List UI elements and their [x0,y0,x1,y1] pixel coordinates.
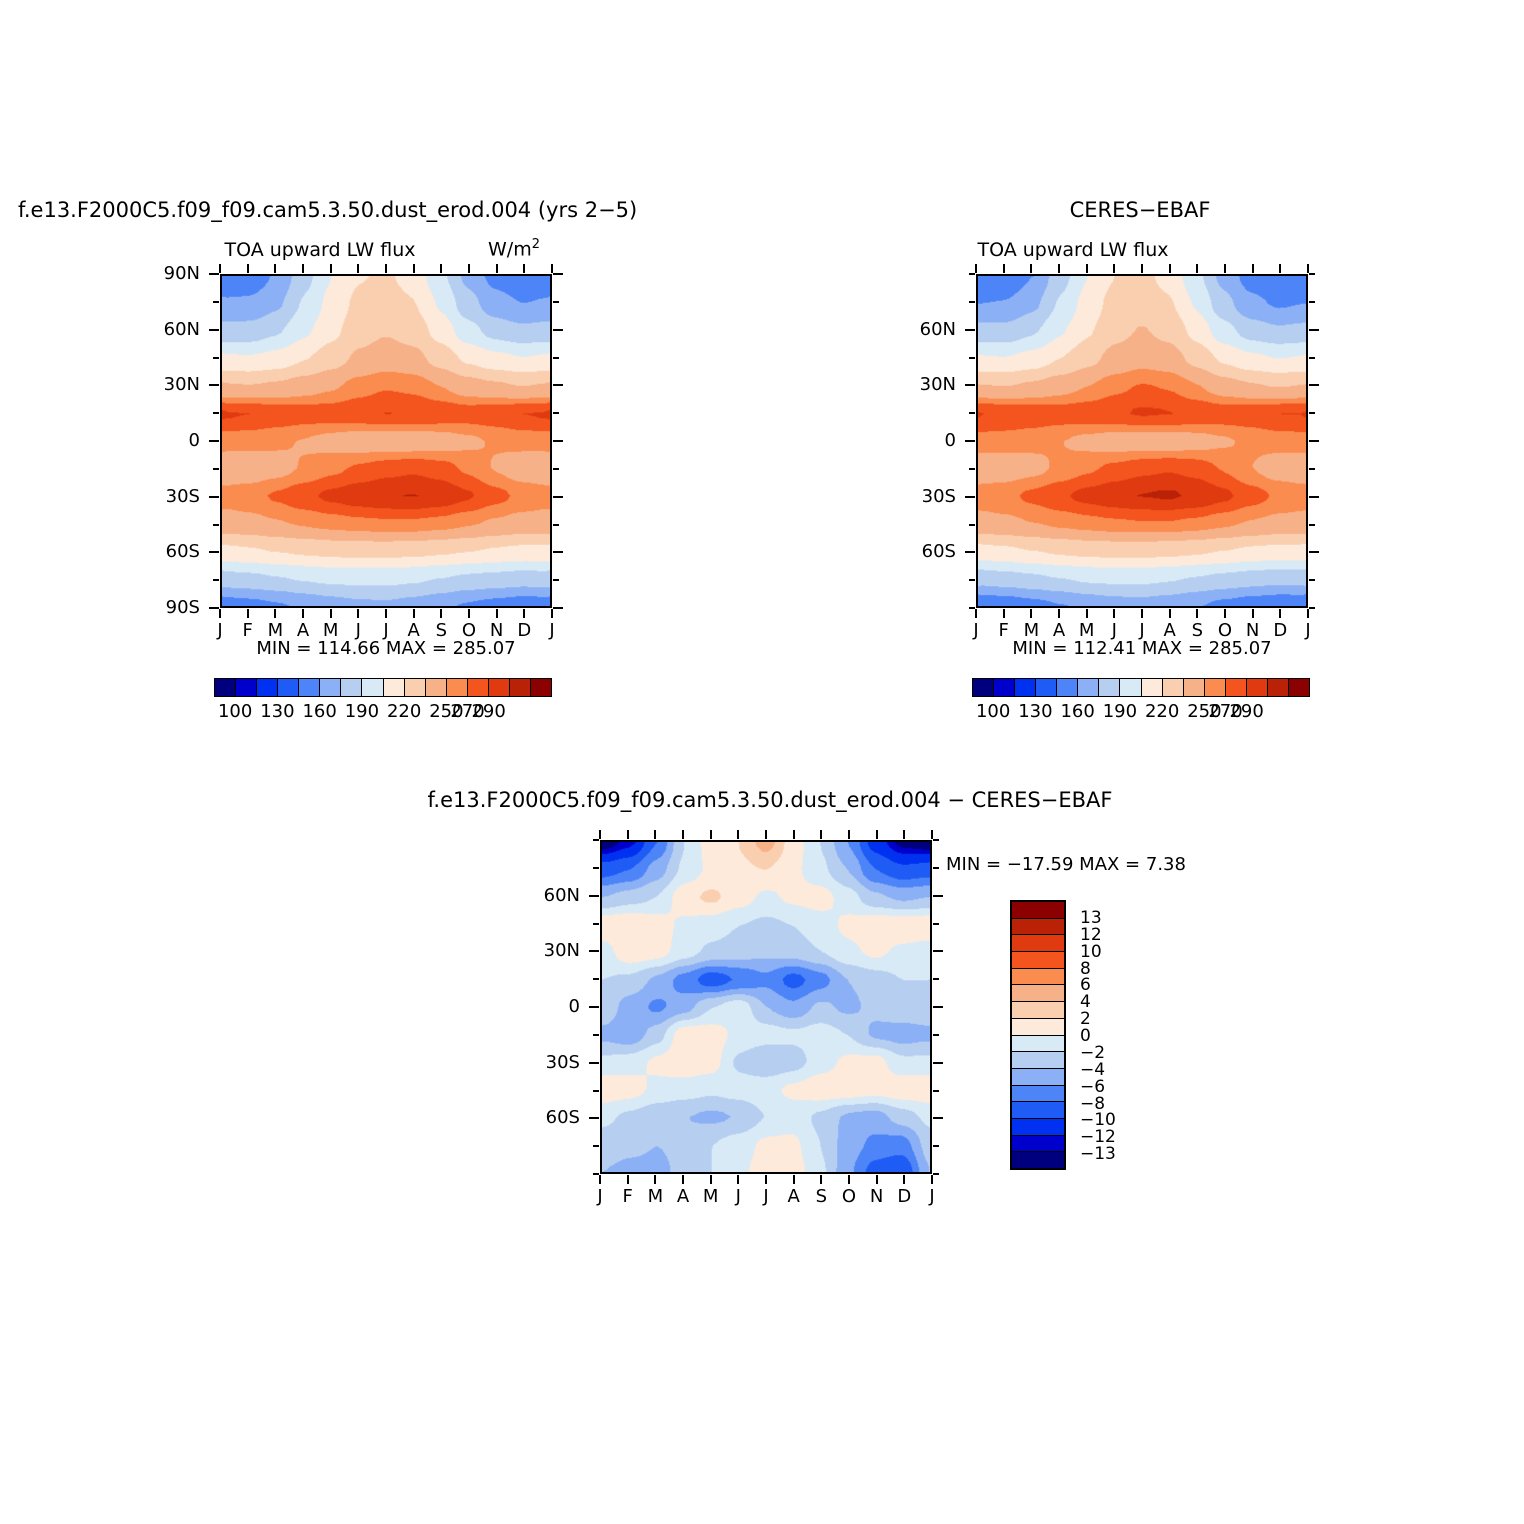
x-tick [1169,609,1171,618]
y-axis-label: 30S [166,488,200,506]
x-axis-label: N [870,1188,883,1206]
y-tick [553,273,563,275]
colorbar-cell [1012,1036,1064,1053]
y-axis-label: 30N [544,942,580,960]
colorbar-tick-label: 220 [1145,703,1179,721]
x-axis-label: F [998,622,1008,640]
colorbar-cell [1184,679,1205,696]
x-axis-label: J [597,1188,602,1206]
colorbar-cell [489,679,510,696]
x-tick [1307,264,1309,273]
obs-contour-canvas [978,276,1306,606]
colorbar-cell [1012,1052,1064,1069]
x-axis-label: S [816,1188,827,1206]
y-tick [213,579,219,581]
x-tick [627,1175,629,1184]
x-tick [1196,609,1198,618]
y-axis-label: 60S [546,1109,580,1127]
x-tick [468,264,470,273]
y-tick [213,412,219,414]
y-tick [589,1062,599,1064]
x-axis-label: M [648,1188,664,1206]
x-axis-label: J [763,1188,768,1206]
x-tick [876,1175,878,1184]
y-tick [933,839,939,841]
y-tick [933,1090,939,1092]
x-axis-label: O [842,1188,856,1206]
obs-minmax-text: MIN = 112.41 MAX = 285.07 [1012,640,1271,658]
y-tick [553,329,563,331]
x-tick [1169,264,1171,273]
y-tick [593,1090,599,1092]
y-tick [1309,357,1315,359]
y-tick [965,440,975,442]
y-tick [1309,384,1319,386]
y-tick [933,978,939,980]
y-tick [933,950,943,952]
y-axis-label: 60N [544,887,580,905]
x-tick [1224,609,1226,618]
colorbar-cell [426,679,447,696]
x-tick [551,609,553,618]
x-tick [302,609,304,618]
colorbar-cell [1226,679,1247,696]
colorbar-cell [1012,1069,1064,1086]
x-tick [357,609,359,618]
x-tick [848,1175,850,1184]
model-colorbar[interactable] [214,678,552,697]
x-tick [1252,609,1254,618]
colorbar-cell [1057,679,1078,696]
x-tick [468,609,470,618]
x-tick [1086,264,1088,273]
x-tick [385,609,387,618]
x-axis-label: M [703,1188,719,1206]
colorbar-cell [1012,902,1064,919]
x-tick [274,609,276,618]
y-tick [1309,301,1315,303]
y-tick [1309,412,1315,414]
model-contour-canvas [222,276,550,606]
x-tick [385,264,387,273]
x-tick [1141,264,1143,273]
y-axis-label: 30S [546,1054,580,1072]
y-tick [209,329,219,331]
colorbar-cell [1012,1102,1064,1119]
y-tick [553,384,563,386]
model-panel-units: W/m2 [488,239,540,259]
colorbar-cell [1012,1152,1064,1168]
colorbar-cell [1012,1086,1064,1103]
y-tick [553,524,559,526]
y-tick [965,384,975,386]
diff-panel-title: f.e13.F2000C5.f09_f09.cam5.3.50.dust_ero… [428,790,1113,811]
y-axis-label: 0 [189,432,200,450]
x-tick [440,609,442,618]
diff-colorbar[interactable] [1010,900,1066,1170]
x-tick [219,264,221,273]
colorbar-cell [994,679,1015,696]
x-tick [1141,609,1143,618]
colorbar-cell [341,679,362,696]
x-tick [931,1175,933,1184]
y-tick [965,496,975,498]
y-tick [965,329,975,331]
colorbar-cell [1036,679,1057,696]
y-axis-label: 90N [164,265,200,283]
y-tick [593,923,599,925]
x-tick [793,1175,795,1184]
colorbar-cell [1247,679,1268,696]
x-axis-label: D [1273,622,1287,640]
y-axis-label: 30N [164,376,200,394]
x-tick [551,264,553,273]
colorbar-cell [384,679,405,696]
y-tick [969,357,975,359]
x-tick [975,609,977,618]
y-tick [933,1062,943,1064]
x-tick [1252,264,1254,273]
colorbar-cell [1012,969,1064,986]
colorbar-tick-label: 190 [345,703,379,721]
y-tick [933,867,939,869]
x-axis-label: J [549,622,554,640]
x-tick [654,830,656,839]
x-tick [440,264,442,273]
y-tick [1309,440,1319,442]
x-tick [599,1175,601,1184]
y-tick [553,412,559,414]
colorbar-tick-label: 160 [1060,703,1094,721]
colorbar-cell [1012,935,1064,952]
colorbar-cell [362,679,383,696]
x-tick [710,1175,712,1184]
y-tick [589,895,599,897]
y-tick [593,839,599,841]
x-axis-label: J [1305,622,1310,640]
x-axis-label: J [929,1188,934,1206]
y-tick [969,579,975,581]
y-tick [593,1034,599,1036]
x-tick [413,609,415,618]
y-tick [209,384,219,386]
model-panel-title: f.e13.F2000C5.f09_f09.cam5.3.50.dust_ero… [18,200,637,221]
x-tick [274,264,276,273]
colorbar-tick-label: 290 [471,703,505,721]
x-axis-label: F [622,1188,632,1206]
x-tick [523,609,525,618]
colorbar-cell [1012,1136,1064,1153]
x-axis-label: A [787,1188,799,1206]
x-tick [1307,609,1309,618]
y-tick [213,301,219,303]
colorbar-cell [1205,679,1226,696]
y-tick [969,412,975,414]
colorbar-tick-label: 130 [1018,703,1052,721]
colorbar-tick-label: 100 [976,703,1010,721]
x-tick [330,609,332,618]
y-axis-label: 0 [945,432,956,450]
diff-contour-plot[interactable] [600,840,932,1174]
x-tick [710,830,712,839]
colorbar-cell [973,679,994,696]
x-tick [737,830,739,839]
x-axis-label: J [217,622,222,640]
y-tick [553,440,563,442]
y-axis-label: 90S [166,599,200,617]
colorbar-tick-label: 130 [260,703,294,721]
x-axis-label: D [897,1188,911,1206]
colorbar-tick-label: 220 [387,703,421,721]
x-tick [876,830,878,839]
colorbar-cell [1099,679,1120,696]
diff-contour-canvas [602,842,930,1172]
y-tick [553,301,559,303]
x-tick [1030,609,1032,618]
x-tick [793,830,795,839]
y-axis-label: 60N [920,321,956,339]
y-tick [209,496,219,498]
y-tick [969,301,975,303]
y-tick [969,468,975,470]
y-tick [933,1145,939,1147]
colorbar-cell [257,679,278,696]
colorbar-cell [1268,679,1289,696]
model-minmax-text: MIN = 114.66 MAX = 285.07 [256,640,515,658]
x-tick [413,264,415,273]
y-tick [213,468,219,470]
x-tick [1279,609,1281,618]
x-tick [1279,264,1281,273]
x-tick [1003,264,1005,273]
x-tick [903,830,905,839]
x-tick [903,1175,905,1184]
colorbar-cell [1120,679,1141,696]
y-tick [593,1145,599,1147]
obs-panel-title: CERES−EBAF [1070,200,1211,221]
x-tick [848,830,850,839]
x-tick [496,264,498,273]
y-tick [589,1117,599,1119]
x-tick [523,264,525,273]
colorbar-cell [1012,919,1064,936]
y-tick [593,867,599,869]
x-tick [357,264,359,273]
y-tick [213,524,219,526]
colorbar-cell [299,679,320,696]
colorbar-cell [1012,1019,1064,1036]
y-tick [553,357,559,359]
x-tick [682,1175,684,1184]
y-tick [969,524,975,526]
x-tick [247,609,249,618]
y-tick [1309,607,1315,609]
y-tick [965,551,975,553]
y-tick [209,551,219,553]
colorbar-tick-label: 100 [218,703,252,721]
x-tick [1113,264,1115,273]
colorbar-cell [236,679,257,696]
diff-colorbar-labels: 13121086420−2−4−6−8−10−12−13 [1074,900,1134,1170]
y-tick [1309,579,1315,581]
y-tick [933,1034,939,1036]
y-axis-label: 60S [166,543,200,561]
colorbar-cell [447,679,468,696]
y-tick [593,978,599,980]
y-tick [553,468,559,470]
x-tick [682,830,684,839]
colorbar-cell [1015,679,1036,696]
x-tick [820,1175,822,1184]
colorbar-cell [1012,985,1064,1002]
x-tick [1058,264,1060,273]
colorbar-tick-label: 290 [1229,703,1263,721]
y-tick [1309,468,1315,470]
colorbar-cell [531,679,551,696]
x-tick [820,830,822,839]
y-axis-label: 60S [922,543,956,561]
colorbar-cell [1142,679,1163,696]
x-axis-label: J [736,1188,741,1206]
x-axis-label: D [517,622,531,640]
y-tick [209,273,219,275]
x-tick [765,830,767,839]
colorbar-cell [1012,1119,1064,1136]
x-tick [219,609,221,618]
y-axis-label: 30N [920,376,956,394]
y-tick [1309,551,1319,553]
y-tick [1309,329,1319,331]
y-tick [553,607,563,609]
x-tick [302,264,304,273]
colorbar-cell [405,679,426,696]
x-tick [1224,264,1226,273]
x-axis-label: F [242,622,252,640]
x-tick [330,264,332,273]
y-tick [933,895,943,897]
y-tick [933,1117,943,1119]
y-tick [589,1006,599,1008]
x-tick [654,1175,656,1184]
diff-minmax-text: MIN = −17.59 MAX = 7.38 [946,856,1186,874]
colorbar-cell [320,679,341,696]
x-tick [599,830,601,839]
colorbar-cell [510,679,531,696]
y-tick [969,273,975,275]
y-axis-label: 30S [922,488,956,506]
colorbar-cell [1012,952,1064,969]
model-contour-plot[interactable] [220,274,552,608]
y-axis-label: 60N [164,321,200,339]
y-tick [553,579,559,581]
x-tick [765,1175,767,1184]
x-tick [1113,609,1115,618]
x-tick [1086,609,1088,618]
obs-contour-plot[interactable] [976,274,1308,608]
obs-panel-subtitle: TOA upward LW flux [977,241,1168,260]
y-tick [553,551,563,553]
y-tick [213,357,219,359]
x-axis-label: J [973,622,978,640]
x-tick [1030,264,1032,273]
colorbar-cell [468,679,489,696]
model-panel-subtitle: TOA upward LW flux [224,241,415,260]
y-tick [553,496,563,498]
x-tick [931,830,933,839]
colorbar-tick-label: −13 [1080,1144,1116,1164]
colorbar-cell [1012,1002,1064,1019]
colorbar-cell [278,679,299,696]
y-tick [209,440,219,442]
y-tick [933,923,939,925]
y-tick [589,950,599,952]
x-tick [737,1175,739,1184]
y-tick [933,1006,943,1008]
colorbar-cell [1163,679,1184,696]
colorbar-tick-label: 190 [1103,703,1137,721]
obs-colorbar[interactable] [972,678,1310,697]
colorbar-cell [1289,679,1309,696]
colorbar-cell [215,679,236,696]
x-tick [1058,609,1060,618]
x-tick [1003,609,1005,618]
y-tick [209,607,219,609]
y-tick [1309,496,1319,498]
x-tick [247,264,249,273]
x-tick [627,830,629,839]
x-tick [975,264,977,273]
y-axis-label: 0 [569,998,580,1016]
x-tick [1196,264,1198,273]
colorbar-cell [1078,679,1099,696]
y-tick [1309,524,1315,526]
y-tick [933,1173,939,1175]
y-tick [1309,273,1315,275]
x-tick [496,609,498,618]
colorbar-tick-label: 160 [302,703,336,721]
x-axis-label: A [677,1188,689,1206]
